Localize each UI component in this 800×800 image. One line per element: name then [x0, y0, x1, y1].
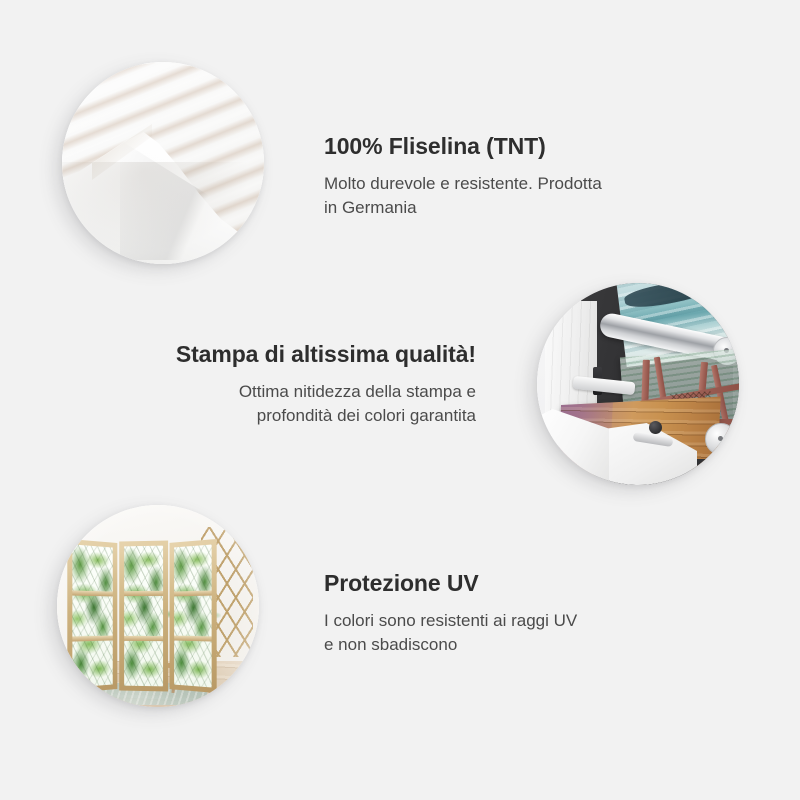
monstera-leaf-pattern: [72, 544, 112, 687]
feature-description-line-2: in Germania: [324, 196, 664, 220]
feature-title: Stampa di altissima qualità!: [116, 341, 476, 369]
roller-wheel: [705, 423, 737, 455]
feature-title: Protezione UV: [324, 570, 664, 598]
feature-title: 100% Fliselina (TNT): [324, 133, 664, 161]
printer-knob: [649, 421, 662, 434]
wallpaper-roll-peeled-corner-icon: [62, 62, 264, 264]
flap-under-shadow: [62, 162, 264, 264]
feature-image-uv-protection: [57, 505, 259, 707]
leaf-veins: [174, 545, 212, 688]
feature-description-line-2: profondità dei colori garantita: [116, 404, 476, 428]
feature-image-material: [62, 62, 264, 264]
tropical-room-divider-icon: [57, 505, 259, 707]
divider-panel: [67, 539, 117, 693]
divider-panel: [119, 541, 168, 692]
feature-text-uv-protection: Protezione UV I colori sono resistenti a…: [324, 570, 664, 657]
divider-panel: [170, 539, 217, 693]
monstera-leaf-pattern: [174, 545, 212, 688]
monstera-leaf-pattern: [124, 546, 163, 687]
feature-description-line-1: Molto durevole e resistente. Prodotta: [324, 172, 664, 196]
feature-highlights-panel: 100% Fliselina (TNT) Molto durevole e re…: [0, 0, 800, 800]
feature-text-print-quality: Stampa di altissima qualità! Ottima niti…: [116, 341, 476, 428]
leaf-veins: [124, 546, 163, 687]
leaf-veins: [72, 544, 112, 687]
feature-text-material: 100% Fliselina (TNT) Molto durevole e re…: [324, 133, 664, 220]
feature-description-line-2: e non sbadiscono: [324, 633, 664, 657]
feature-description-line-1: Ottima nitidezza della stampa e: [116, 380, 476, 404]
printing-machine-rollers-icon: [537, 283, 739, 485]
feature-description-line-1: I colori sono resistenti ai raggi UV: [324, 609, 664, 633]
feature-image-print-quality: [537, 283, 739, 485]
room-divider-screen: [67, 541, 217, 691]
